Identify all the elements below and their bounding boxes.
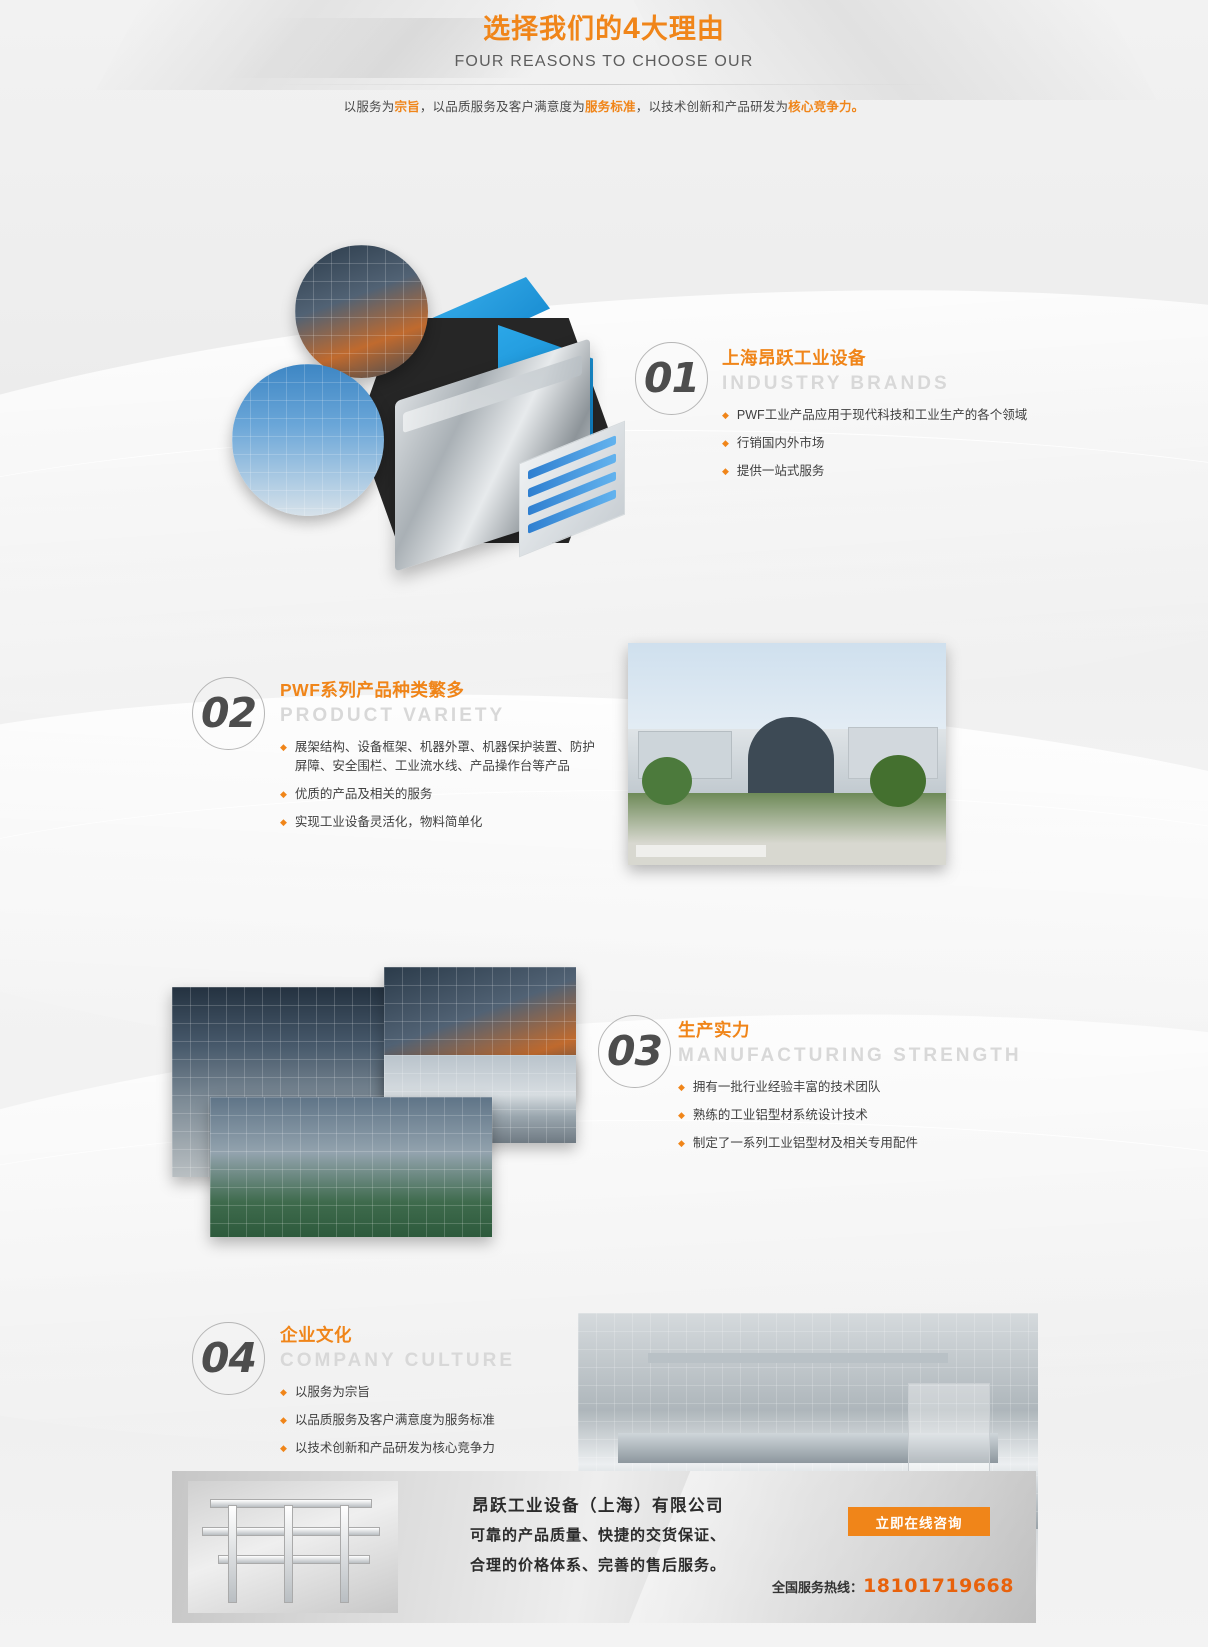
diamond-bullet-icon: ◆ bbox=[280, 1411, 287, 1430]
section-number-01: 01 bbox=[635, 342, 708, 415]
hotline-label: 全国服务热线： bbox=[772, 1580, 863, 1595]
list-item: ◆优质的产品及相关的服务 bbox=[280, 785, 600, 804]
footer-product-drawing bbox=[188, 1481, 398, 1613]
photo-factory-gate bbox=[628, 643, 946, 865]
slogan-highlight: 宗旨 bbox=[394, 100, 419, 114]
photo-workshop-floor bbox=[210, 1097, 492, 1237]
diamond-bullet-icon: ◆ bbox=[722, 462, 729, 481]
promo-page: 选择我们的4大理由 FOUR REASONS TO CHOOSE OUR 以服务… bbox=[0, 0, 1208, 1647]
page-title-suffix: 大理由 bbox=[641, 14, 725, 44]
list-item: ◆拥有一批行业经验丰富的技术团队 bbox=[678, 1078, 1098, 1097]
section-bullet-list: ◆以服务为宗旨 ◆以品质服务及客户满意度为服务标准 ◆以技术创新和产品研发为核心… bbox=[280, 1383, 580, 1458]
section-text-01: 上海昂跃工业设备 INDUSTRY BRANDS ◆PWF工业产品应用于现代科技… bbox=[722, 346, 1152, 490]
bullet-text: 行销国内外市场 bbox=[737, 434, 825, 453]
page-header: 选择我们的4大理由 FOUR REASONS TO CHOOSE OUR 以服务… bbox=[0, 0, 1208, 115]
section-title-cn: 企业文化 bbox=[280, 1323, 580, 1347]
section-title-en: INDUSTRY BRANDS bbox=[722, 371, 1152, 397]
section-title-en: PRODUCT VARIETY bbox=[280, 703, 600, 729]
bullet-text: 以服务为宗旨 bbox=[295, 1383, 370, 1402]
list-item: ◆熟练的工业铝型材系统设计技术 bbox=[678, 1106, 1098, 1125]
section-number-text: 01 bbox=[644, 358, 699, 399]
bullet-text: 实现工业设备灵活化，物料简单化 bbox=[295, 813, 483, 832]
section-number-text: 03 bbox=[607, 1031, 662, 1072]
hotline-number: 18101719668 bbox=[863, 1575, 1014, 1597]
list-item: ◆以品质服务及客户满意度为服务标准 bbox=[280, 1411, 580, 1430]
diamond-bullet-icon: ◆ bbox=[722, 406, 729, 425]
section-number-text: 02 bbox=[201, 693, 256, 734]
page-title-prefix: 选择我们的 bbox=[483, 14, 623, 44]
header-divider bbox=[268, 84, 940, 85]
hotline: 全国服务热线：18101719668 bbox=[734, 1575, 1014, 1597]
list-item: ◆实现工业设备灵活化，物料简单化 bbox=[280, 813, 600, 832]
diamond-bullet-icon: ◆ bbox=[722, 434, 729, 453]
list-item: ◆展架结构、设备框架、机器外罩、机器保护装置、防护屏障、安全围栏、工业流水线、产… bbox=[280, 738, 600, 776]
diamond-bullet-icon: ◆ bbox=[280, 1383, 287, 1402]
diamond-bullet-icon: ◆ bbox=[678, 1106, 685, 1125]
list-item: ◆制定了一系列工业铝型材及相关专用配件 bbox=[678, 1134, 1098, 1153]
footer-company-info: 昂跃工业设备（上海）有限公司 可靠的产品质量、快捷的交货保证、 合理的价格体系、… bbox=[408, 1491, 788, 1581]
section-bullet-list: ◆拥有一批行业经验丰富的技术团队 ◆熟练的工业铝型材系统设计技术 ◆制定了一系列… bbox=[678, 1078, 1098, 1153]
bullet-text: 熟练的工业铝型材系统设计技术 bbox=[693, 1106, 868, 1125]
section-bullet-list: ◆PWF工业产品应用于现代科技和工业生产的各个领域 ◆行销国内外市场 ◆提供一站… bbox=[722, 406, 1152, 481]
section-number-04: 04 bbox=[192, 1322, 265, 1395]
page-slogan: 以服务为宗旨，以品质服务及客户满意度为服务标准，以技术创新和产品研发为核心竞争力… bbox=[0, 96, 1208, 115]
list-item: ◆PWF工业产品应用于现代科技和工业生产的各个领域 bbox=[722, 406, 1152, 425]
diamond-bullet-icon: ◆ bbox=[280, 813, 287, 832]
bullet-text: 以品质服务及客户满意度为服务标准 bbox=[295, 1411, 495, 1430]
page-title: 选择我们的4大理由 bbox=[0, 12, 1208, 46]
footer-tagline-line1: 可靠的产品质量、快捷的交货保证、 bbox=[408, 1521, 788, 1551]
bullet-text: 以技术创新和产品研发为核心竞争力 bbox=[295, 1439, 495, 1458]
list-item: ◆提供一站式服务 bbox=[722, 462, 1152, 481]
footer-tagline-line2: 合理的价格体系、完善的售后服务。 bbox=[408, 1551, 788, 1581]
photo-assembly-worker bbox=[232, 364, 384, 516]
diamond-bullet-icon: ◆ bbox=[280, 1439, 287, 1458]
section-text-02: PWF系列产品种类繁多 PRODUCT VARIETY ◆展架结构、设备框架、机… bbox=[280, 678, 600, 841]
page-subtitle: FOUR REASONS TO CHOOSE OUR bbox=[0, 53, 1208, 71]
bullet-text: 制定了一系列工业铝型材及相关专用配件 bbox=[693, 1134, 918, 1153]
slogan-highlight: 核心竞争力。 bbox=[788, 100, 864, 114]
diamond-bullet-icon: ◆ bbox=[280, 738, 287, 757]
section-bullet-list: ◆展架结构、设备框架、机器外罩、机器保护装置、防护屏障、安全围栏、工业流水线、产… bbox=[280, 738, 600, 832]
list-item: ◆以技术创新和产品研发为核心竞争力 bbox=[280, 1439, 580, 1458]
diamond-bullet-icon: ◆ bbox=[280, 785, 287, 804]
section-title-cn: 上海昂跃工业设备 bbox=[722, 346, 1152, 370]
footer-company-name: 昂跃工业设备（上海）有限公司 bbox=[408, 1491, 788, 1521]
online-consult-button[interactable]: 立即在线咨询 bbox=[848, 1507, 990, 1536]
photo-welding-workshop bbox=[295, 245, 428, 378]
diamond-bullet-icon: ◆ bbox=[678, 1134, 685, 1153]
bullet-text: 优质的产品及相关的服务 bbox=[295, 785, 433, 804]
slogan-highlight: 服务标准 bbox=[585, 100, 636, 114]
list-item: ◆以服务为宗旨 bbox=[280, 1383, 580, 1402]
section-number-03: 03 bbox=[598, 1015, 671, 1088]
page-title-number: 4 bbox=[623, 12, 641, 45]
slogan-part: ，以品质服务及客户满意度为 bbox=[420, 100, 585, 114]
slogan-part: ，以技术创新和产品研发为 bbox=[636, 100, 788, 114]
section-number-text: 04 bbox=[201, 1338, 256, 1379]
section-number-02: 02 bbox=[192, 677, 265, 750]
slogan-part: 以服务为 bbox=[344, 100, 395, 114]
section-title-cn: PWF系列产品种类繁多 bbox=[280, 678, 600, 702]
diamond-bullet-icon: ◆ bbox=[678, 1078, 685, 1097]
section-text-04: 企业文化 COMPANY CULTURE ◆以服务为宗旨 ◆以品质服务及客户满意… bbox=[280, 1323, 580, 1467]
list-item: ◆行销国内外市场 bbox=[722, 434, 1152, 453]
section-title-en: COMPANY CULTURE bbox=[280, 1348, 580, 1374]
section-title-cn: 生产实力 bbox=[678, 1018, 1098, 1042]
bullet-text: PWF工业产品应用于现代科技和工业生产的各个领域 bbox=[737, 406, 1027, 425]
footer-banner: 昂跃工业设备（上海）有限公司 可靠的产品质量、快捷的交货保证、 合理的价格体系、… bbox=[172, 1471, 1036, 1623]
bullet-text: 拥有一批行业经验丰富的技术团队 bbox=[693, 1078, 881, 1097]
bullet-text: 提供一站式服务 bbox=[737, 462, 825, 481]
bullet-text: 展架结构、设备框架、机器外罩、机器保护装置、防护屏障、安全围栏、工业流水线、产品… bbox=[295, 738, 600, 776]
section-text-03: 生产实力 MANUFACTURING STRENGTH ◆拥有一批行业经验丰富的… bbox=[678, 1018, 1098, 1162]
section-title-en: MANUFACTURING STRENGTH bbox=[678, 1043, 1098, 1069]
